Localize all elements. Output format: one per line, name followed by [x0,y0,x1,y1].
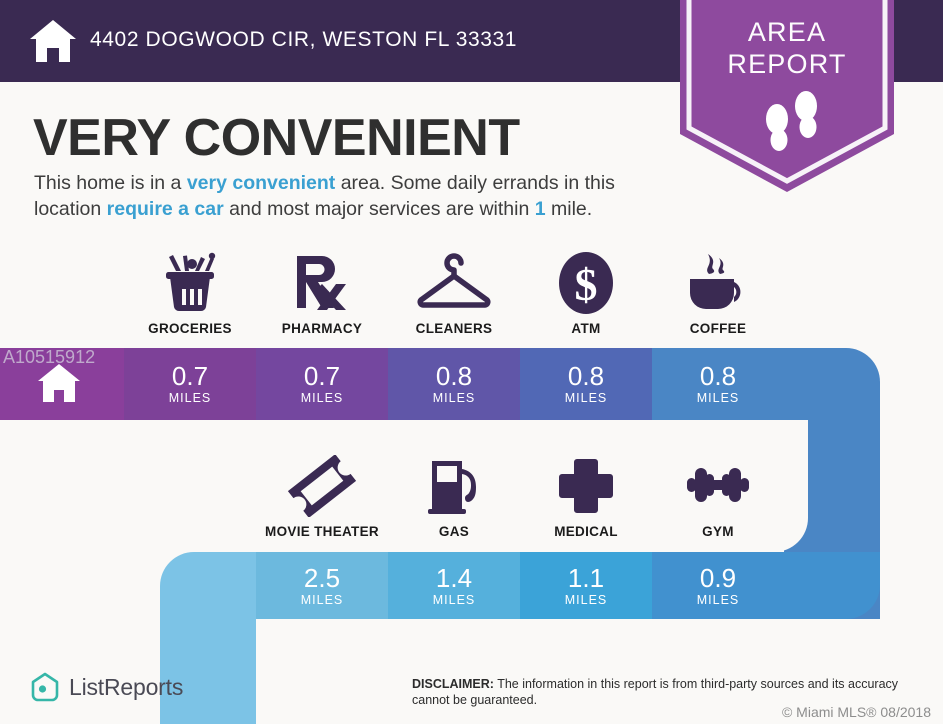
category-gym: GYM [652,455,784,539]
distance-value: 0.9 [652,564,784,592]
category-label: GYM [652,524,784,539]
distance-value: 0.8 [520,362,652,390]
movie-ticket-icon [256,455,388,517]
distance-unit: MILES [256,391,388,405]
distance-unit: MILES [388,391,520,405]
gym-dumbbell-icon [652,455,784,517]
distance-value: 1.1 [520,564,652,592]
disclaimer-label: DISCLAIMER: [412,677,494,691]
mls-watermark: A10515912 [3,347,95,368]
medical-cross-icon [520,455,652,517]
distance-value: 1.4 [388,564,520,592]
row2-value-medical: 1.1 MILES [520,564,652,607]
area-report-page: 4402 DOGWOOD CIR, WESTON FL 33331 AREA R… [0,0,943,724]
distance-value: 0.7 [256,362,388,390]
listreports-logo: ListReports [30,672,183,702]
row1-value-cleaners: 0.8 MILES [388,362,520,405]
badge-line-1: AREA [680,16,894,48]
distance-unit: MILES [124,391,256,405]
row2-value-gas: 1.4 MILES [388,564,520,607]
category-gas: GAS [388,455,520,539]
distance-value: 2.5 [256,564,388,592]
badge-line-2: REPORT [680,48,894,80]
distance-unit: MILES [520,391,652,405]
distance-unit: MILES [652,593,784,607]
mls-copyright: © Miami MLS® 08/2018 [782,704,931,720]
category-medical: MEDICAL [520,455,652,539]
row1-value-coffee: 0.8 MILES [652,362,784,405]
distance-unit: MILES [652,391,784,405]
row2-value-gym: 0.9 MILES [652,564,784,607]
distance-unit: MILES [256,593,388,607]
listreports-house-icon [30,672,60,702]
area-report-badge: AREA REPORT [680,0,894,192]
category-label: GAS [388,524,520,539]
row1-value-pharmacy: 0.7 MILES [256,362,388,405]
home-icon [28,18,78,64]
listreports-wordmark: ListReports [69,674,183,701]
badge-text: AREA REPORT [680,16,894,80]
distance-unit: MILES [388,593,520,607]
distance-unit: MILES [520,593,652,607]
row1-value-atm: 0.8 MILES [520,362,652,405]
category-label: MOVIE THEATER [256,524,388,539]
row1-value-groceries: 0.7 MILES [124,362,256,405]
gas-pump-icon [388,455,520,517]
distance-value: 0.7 [124,362,256,390]
home-icon [36,362,82,404]
right-connector-band-lower [784,552,880,619]
category-label: MEDICAL [520,524,652,539]
category-movie-theater: MOVIE THEATER [256,455,388,539]
distance-value: 0.8 [652,362,784,390]
distance-value: 0.8 [388,362,520,390]
row2-value-movie-theater: 2.5 MILES [256,564,388,607]
property-address: 4402 DOGWOOD CIR, WESTON FL 33331 [90,28,517,52]
